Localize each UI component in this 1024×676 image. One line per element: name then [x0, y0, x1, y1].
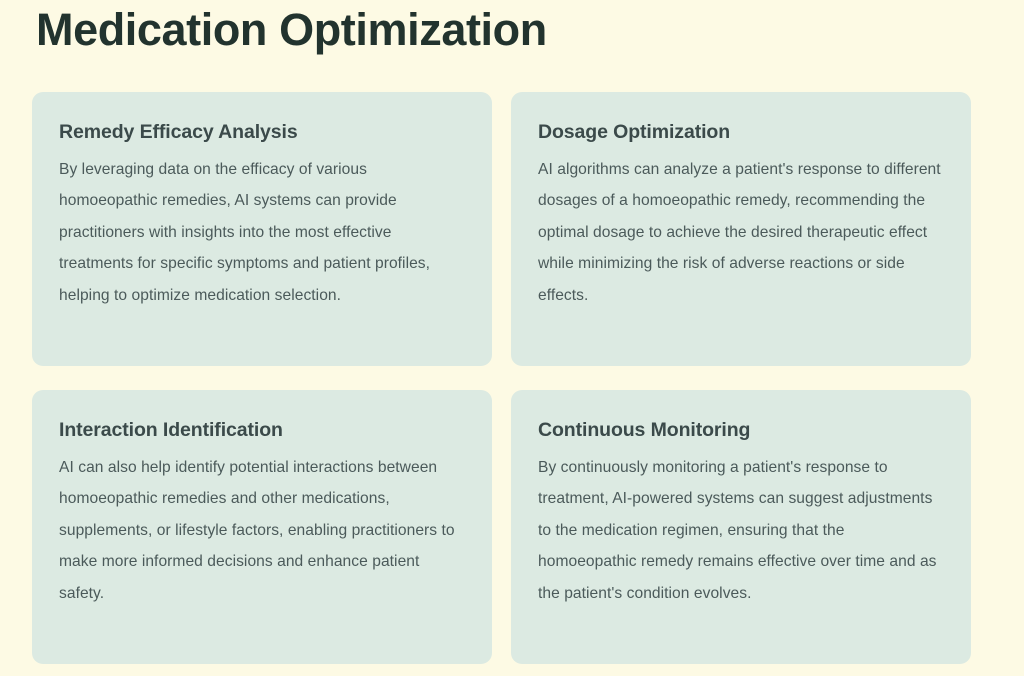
card-body: By continuously monitoring a patient's r…	[538, 452, 945, 609]
slide-root: Medication Optimization Remedy Efficacy …	[0, 0, 1024, 676]
feature-card-grid: Remedy Efficacy Analysis By leveraging d…	[32, 92, 1024, 664]
card-dosage-optimization: Dosage Optimization AI algorithms can an…	[511, 92, 971, 366]
card-title: Interaction Identification	[59, 417, 466, 443]
card-body: By leveraging data on the efficacy of va…	[59, 154, 466, 311]
card-title: Continuous Monitoring	[538, 417, 945, 443]
card-remedy-efficacy-analysis: Remedy Efficacy Analysis By leveraging d…	[32, 92, 492, 366]
page-title: Medication Optimization	[36, 2, 547, 58]
card-interaction-identification: Interaction Identification AI can also h…	[32, 390, 492, 664]
card-continuous-monitoring: Continuous Monitoring By continuously mo…	[511, 390, 971, 664]
card-title: Remedy Efficacy Analysis	[59, 119, 466, 145]
card-title: Dosage Optimization	[538, 119, 945, 145]
card-body: AI can also help identify potential inte…	[59, 452, 466, 609]
card-body: AI algorithms can analyze a patient's re…	[538, 154, 945, 311]
